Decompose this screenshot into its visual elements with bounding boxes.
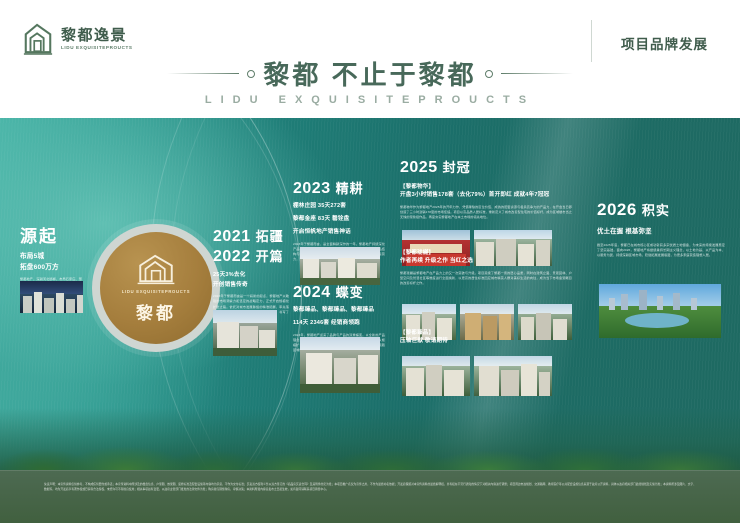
origin-lead-2: 拓盘600万方 xyxy=(20,262,82,273)
year-2021-number: 2021 xyxy=(213,228,251,245)
milestone-2025: 2025封冠 【黎都物华】 开盘3小时销售178套（去化79%）首开即红 成就4… xyxy=(400,159,572,220)
milestone-2025-block3: 【黎都臻品】 压轴巨献 敬请期待 xyxy=(400,328,572,347)
legal-disclaimer: 免责声明：本宣传资料仅供参考，不构成任何要约或承诺；本宣传资料中所涉及的楼盘信息… xyxy=(44,482,696,493)
house-logo-icon xyxy=(22,22,54,56)
y2024-photo xyxy=(300,337,380,393)
page-subtitle: LIDU EXQUISITEPROUCTS xyxy=(0,94,740,106)
year-2024: 2024蝶变 xyxy=(293,284,385,302)
brand-circle-badge: LIDU EXQUISITEPROUCTS 黎都 xyxy=(92,224,220,352)
year-2025-word: 封冠 xyxy=(443,160,471,175)
y2023-lead-1: 棚林庄园 35天272套 xyxy=(293,202,385,212)
title-rule-left xyxy=(167,73,239,74)
year-2021: 2021拓疆 xyxy=(213,228,289,246)
page-header: 黎都逸景 LIDU EXQUISITEPROUCTS 项目品牌发展 黎都 不止于… xyxy=(0,0,740,118)
brand-logo-en: LIDU EXQUISITEPROUCTS xyxy=(61,46,133,51)
origin-photo xyxy=(20,281,83,313)
y2025-block1-body: 黎都物华作为黎都地产2025年的开年力作，凭借稀缺的区位价值、成熟的配套资源与极… xyxy=(400,205,572,220)
y2025-block3-tag: 【黎都臻品】 xyxy=(400,328,572,336)
year-2022: 2022开篇 xyxy=(213,248,289,266)
y2025-photo-6 xyxy=(402,356,470,396)
y2022-photo xyxy=(213,310,277,356)
year-2023: 2023精耕 xyxy=(293,180,385,198)
y2025-block1-lead: 开盘3小时销售178套（去化79%）首开即红 成就4年7冠冠 xyxy=(400,191,572,201)
main-title-row: 黎都 不止于黎都 xyxy=(0,55,740,92)
milestone-2025-block2: 【黎都珑樾】 作者再续 升级之作 当红之选 黎都珑樾是黎都地产在产品力上的又一次… xyxy=(400,248,572,286)
page-title: 黎都 不止于黎都 xyxy=(263,55,476,92)
y2025-block2-body: 黎都珑樾是黎都地产在产品力上的又一次突破与升级。项目延续了黎都一贯的匠心品质，同… xyxy=(400,271,572,286)
y2022-lead-2: 开创销售传奇 xyxy=(213,281,289,291)
house-badge-icon xyxy=(135,252,177,286)
year-2022-word: 开篇 xyxy=(256,249,284,264)
title-dot-right-icon xyxy=(485,70,493,78)
y2023-photo xyxy=(300,247,380,285)
y2024-lead-2: 114天 2346套 经销商领跑 xyxy=(293,319,385,329)
milestone-2026: 2026积实 优土在握 根基弥坚 截至2025年底，黎都已在城市核心区成功斩获多… xyxy=(597,200,725,258)
y2026-photo xyxy=(599,284,721,338)
brand-circle-inner: LIDU EXQUISITEPROUCTS 黎都 xyxy=(100,232,212,344)
footer-top-rule xyxy=(0,470,740,471)
year-2022-number: 2022 xyxy=(213,248,251,265)
year-2023-number: 2023 xyxy=(293,180,331,197)
year-2024-word: 蝶变 xyxy=(336,285,364,300)
y2025-photo-7 xyxy=(474,356,552,396)
year-2026-number: 2026 xyxy=(597,200,637,219)
y2023-lead-3: 开启恒帆地产销售神话 xyxy=(293,228,385,238)
timeline-board: 源起 布局5城 拓盘600万方 黎都地产，深耕河北邯郸，布局石家庄、邢台、衡水、… xyxy=(0,118,740,470)
origin-lead-1: 布局5城 xyxy=(20,251,82,262)
y2026-body: 截至2025年底，黎都已在城市核心区成功斩获多宗优质土地储备，为未来的持续发展奠… xyxy=(597,243,725,258)
header-section-label: 项目品牌发展 xyxy=(621,33,708,53)
badge-en-text: LIDU EXQUISITEPROUCTS xyxy=(122,289,190,294)
y2022-lead-1: 25天3%去化 xyxy=(213,271,289,281)
year-2023-word: 精耕 xyxy=(336,181,364,196)
year-2026-word: 积实 xyxy=(642,203,670,218)
y2025-block2-tag: 【黎都珑樾】 xyxy=(400,248,572,256)
milestone-2021-2022: 2021拓疆 2022开篇 25天3%去化 开创销售传奇 2022年于黎都而言是… xyxy=(213,228,289,320)
y2025-block3-lead: 压轴巨献 敬请期待 xyxy=(400,337,572,347)
year-2025: 2025封冠 xyxy=(400,159,572,177)
poster-page: 黎都逸景 LIDU EXQUISITEPROUCTS 项目品牌发展 黎都 不止于… xyxy=(0,0,740,523)
y2026-lead: 优土在握 根基弥坚 xyxy=(597,226,725,237)
y2025-block2-lead: 作者再续 升级之作 当红之选 xyxy=(400,257,572,267)
origin-title: 源起 xyxy=(20,222,82,247)
year-2021-word: 拓疆 xyxy=(256,229,284,244)
tree-canopy-decoration xyxy=(0,408,740,470)
year-2026: 2026积实 xyxy=(597,200,725,220)
title-rule-right xyxy=(501,73,573,74)
year-2025-number: 2025 xyxy=(400,159,438,176)
year-2024-number: 2024 xyxy=(293,284,331,301)
brand-logo[interactable]: 黎都逸景 LIDU EXQUISITEPROUCTS xyxy=(22,22,133,56)
page-footer: 免责声明：本宣传资料仅供参考，不构成任何要约或承诺；本宣传资料中所涉及的楼盘信息… xyxy=(0,470,740,523)
y2023-lead-2: 黎都金座 83天 罄铨盘 xyxy=(293,215,385,225)
badge-cn-text: 黎都 xyxy=(136,299,176,324)
y2025-block1-tag: 【黎都物华】 xyxy=(400,182,572,190)
y2024-lead-1: 黎都臻品、黎都臻品、黎都臻品 xyxy=(293,306,385,316)
brand-logo-cn: 黎都逸景 xyxy=(61,28,133,43)
title-dot-left-icon xyxy=(247,70,255,78)
